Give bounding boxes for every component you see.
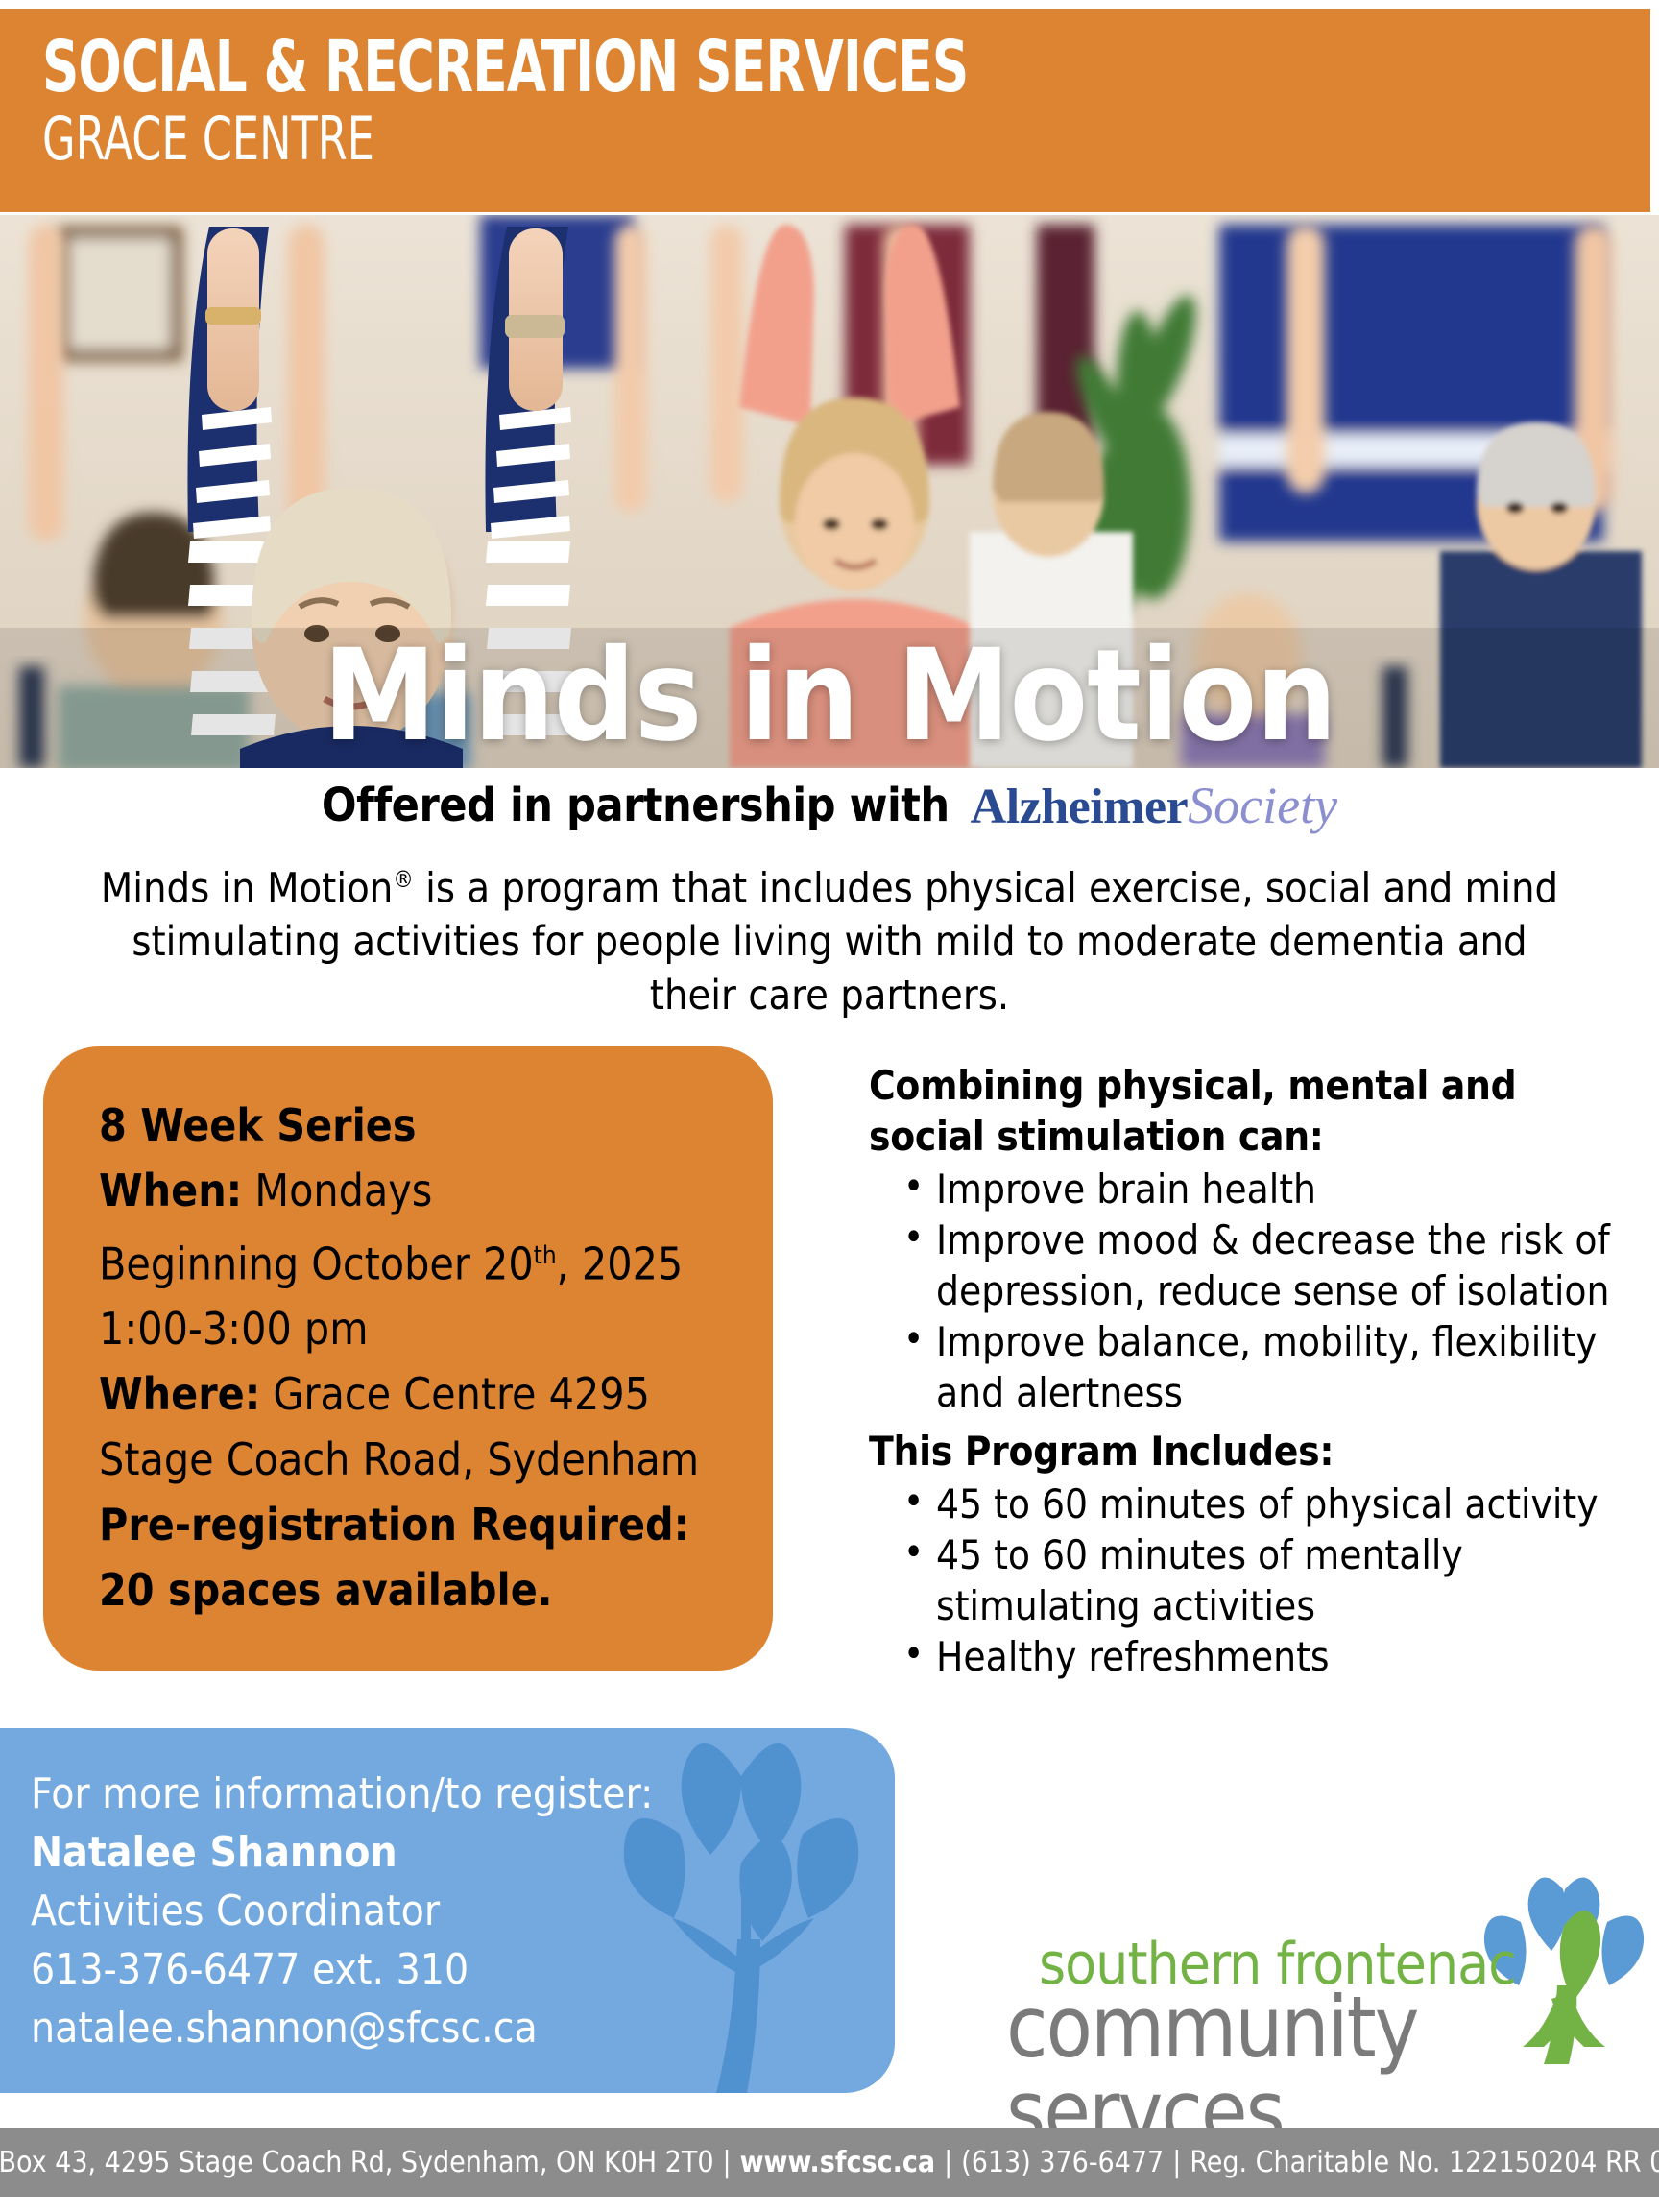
where-value: Grace Centre 4295 [260,1368,650,1420]
contact-phone[interactable]: 613-376-6477 ext. 310 [31,1940,895,1999]
includes-heading: This Program Includes: [869,1426,1637,1477]
footer-separator-3: | [1164,2146,1190,2179]
when-label: When: [99,1165,242,1216]
start-date-b: , 2025 [557,1238,684,1289]
poster-footer: P.O. Box 43, 4295 Stage Coach Rd, Sydenh… [0,2128,1659,2197]
benefits-list: Improve brain health Improve mood & decr… [869,1164,1637,1418]
description-line1-a: Minds in Motion [101,864,393,912]
footer-phone: (613) 376-6477 [961,2146,1164,2179]
partnership-row: Offered in partnership with Alzheimer So… [0,776,1659,835]
list-item: 45 to 60 minutes of physical activity [869,1479,1637,1529]
series-length: 8 Week Series [99,1093,773,1158]
contact-text: For more information/to register: Natale… [0,1728,895,2057]
benefits-heading-line2: social stimulation can: [869,1111,1637,1162]
where-row: Where: Grace Centre 4295 [99,1361,773,1427]
footer-separator-2: | [935,2146,961,2179]
start-date-row: Beginning October 20th, 2025 [99,1223,773,1296]
description-line2: stimulating activities for people living… [132,918,1445,966]
footer-website[interactable]: www.sfcsc.ca [740,2146,935,2179]
hero-title: Minds in Motion [0,629,1659,763]
contact-email[interactable]: natalee.shannon@sfcsc.ca [31,1999,895,2057]
date-ordinal: th [534,1241,557,1270]
list-item: Improve mood & decrease the risk of depr… [869,1214,1637,1316]
footer-address: P.O. Box 43, 4295 Stage Coach Rd, Sydenh… [0,2146,714,2179]
benefits-column: Combining physical, mental and social st… [869,1060,1637,1682]
poster-header: SOCIAL & RECREATION SERVICES GRACE CENTR… [0,9,1650,212]
includes-list: 45 to 60 minutes of physical activity 45… [869,1479,1637,1682]
registered-mark: ® [393,866,414,893]
start-date-a: Beginning October 20 [99,1238,534,1289]
prereg-label: Pre-registration Required: [99,1492,773,1557]
list-item: Improve brain health [869,1164,1637,1214]
program-description: Minds in Motion® is a program that inclu… [86,853,1573,1022]
contact-role: Activities Coordinator [31,1882,895,1940]
contact-name: Natalee Shannon [31,1823,895,1882]
header-title: SOCIAL & RECREATION SERVICES [42,30,1329,105]
where-row-line2: Stage Coach Road, Sydenham [99,1427,773,1492]
when-value: Mondays [242,1165,432,1216]
poster-page: SOCIAL & RECREATION SERVICES GRACE CENTR… [0,0,1659,2212]
list-item: 45 to 60 minutes of mentally stimulating… [869,1529,1637,1631]
contact-intro: For more information/to register: [31,1765,895,1823]
partnership-prefix: Offered in partnership with [322,779,950,832]
footer-text: P.O. Box 43, 4295 Stage Coach Rd, Sydenh… [0,2146,1659,2179]
where-label: Where: [99,1368,260,1420]
header-subtitle: GRACE CENTRE [42,108,1329,170]
list-item: Improve balance, mobility, flexibility a… [869,1316,1637,1418]
time-row: 1:00-3:00 pm [99,1296,773,1361]
footer-separator-1: | [714,2146,740,2179]
footer-charity-number: Reg. Charitable No. 122150204 RR 0001 [1190,2146,1659,2179]
alzheimer-society-logo: Alzheimer Society [971,776,1337,835]
benefits-heading-line1: Combining physical, mental and [869,1060,1637,1111]
when-row: When: Mondays [99,1158,773,1223]
contact-box: For more information/to register: Natale… [0,1728,895,2093]
program-details-box: 8 Week Series When: Mondays Beginning Oc… [43,1046,773,1671]
description-line1-b: is a program that includes physical exer… [414,864,1558,912]
alzheimer-word: Alzheimer [971,779,1189,835]
spaces-available: 20 spaces available. [99,1557,773,1623]
society-word: Society [1188,776,1337,835]
sfcs-logo: southern frontenac community servces [1018,1882,1632,2088]
list-item: Healthy refreshments [869,1631,1637,1682]
